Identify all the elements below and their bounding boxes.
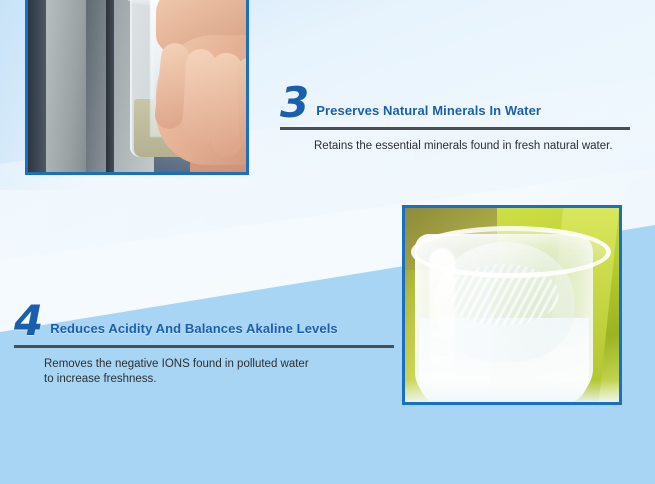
benefit-item-3-header: 3 Preserves Natural Minerals In Water xyxy=(280,84,630,122)
benefit-item-4-body-line-1: Removes the negative IONS found in pollu… xyxy=(44,357,394,372)
benefit-item-3-divider xyxy=(280,127,630,130)
photo-glass-water-green-canvas xyxy=(405,208,619,402)
photo-hand-cup-dispenser xyxy=(25,0,249,175)
benefit-item-4-divider xyxy=(14,345,394,348)
infographic-panel: 3 Preserves Natural Minerals In Water Re… xyxy=(0,0,655,484)
benefit-item-4-body-line-2: to increase freshness. xyxy=(44,372,394,387)
background-footer-block xyxy=(0,420,655,484)
benefit-item-4-body: Removes the negative IONS found in pollu… xyxy=(44,357,394,386)
benefit-item-4: 4 Reduces Acidity And Balances Akaline L… xyxy=(14,302,394,386)
photo-glass-water-green xyxy=(402,205,622,405)
glass-highlight xyxy=(429,248,455,368)
benefit-item-3-heading: Preserves Natural Minerals In Water xyxy=(316,104,541,122)
benefit-item-4-header: 4 Reduces Acidity And Balances Akaline L… xyxy=(14,302,394,340)
photo-hand-cup-dispenser-canvas xyxy=(28,0,246,172)
benefit-item-4-number: 4 xyxy=(14,302,42,340)
dispenser-metal-panel-2 xyxy=(86,0,108,172)
glass-base-shadow xyxy=(405,380,619,402)
benefit-item-4-heading: Reduces Acidity And Balances Akaline Lev… xyxy=(50,322,338,340)
benefit-item-3-number: 3 xyxy=(280,84,308,122)
benefit-item-3-body: Retains the essential minerals found in … xyxy=(314,139,630,154)
benefit-item-3: 3 Preserves Natural Minerals In Water Re… xyxy=(280,84,630,154)
